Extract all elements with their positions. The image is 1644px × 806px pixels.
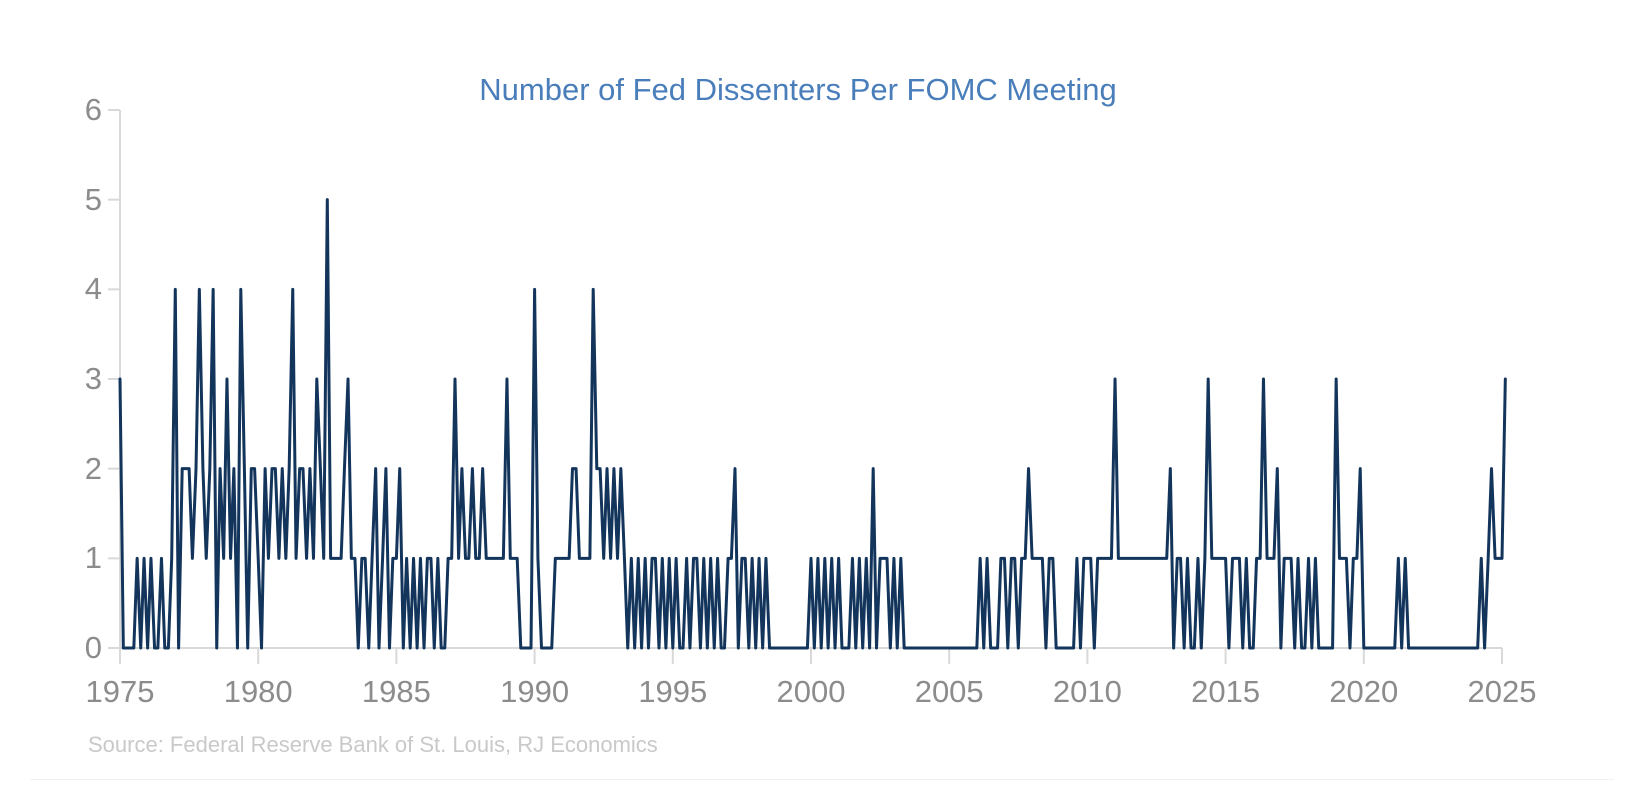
x-tick-label: 2015	[1166, 676, 1286, 707]
source-note: Source: Federal Reserve Bank of St. Loui…	[88, 732, 658, 758]
bottom-divider	[30, 779, 1614, 780]
x-tick-label: 2000	[751, 676, 871, 707]
y-tick-label: 2	[58, 453, 102, 484]
y-tick-label: 6	[58, 94, 102, 125]
x-tick-label: 1985	[336, 676, 456, 707]
y-tick-label: 4	[58, 273, 102, 304]
x-tick-label: 1990	[475, 676, 595, 707]
chart-container: Number of Fed Dissenters Per FOMC Meetin…	[0, 0, 1644, 806]
y-tick-label: 1	[58, 542, 102, 573]
data-series-line	[120, 200, 1505, 648]
x-tick-label: 2010	[1027, 676, 1147, 707]
x-tick-label: 2005	[889, 676, 1009, 707]
y-tick-label: 0	[58, 632, 102, 663]
x-tick-label: 1980	[198, 676, 318, 707]
y-tick-label: 5	[58, 184, 102, 215]
x-tick-label: 2020	[1304, 676, 1424, 707]
y-tick-label: 3	[58, 363, 102, 394]
y-axis	[108, 110, 120, 648]
x-axis	[120, 648, 1502, 664]
x-tick-label: 1975	[60, 676, 180, 707]
x-tick-label: 2025	[1442, 676, 1562, 707]
x-tick-label: 1995	[613, 676, 733, 707]
